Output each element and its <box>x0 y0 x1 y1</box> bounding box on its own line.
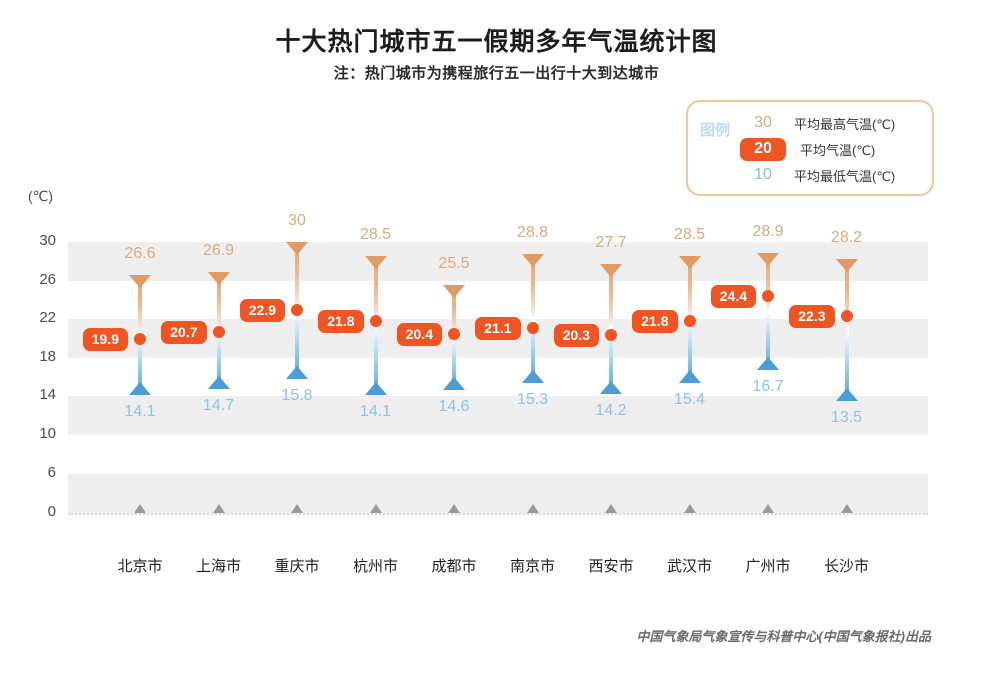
max-temp-value: 28.2 <box>807 229 887 247</box>
max-temp-value: 28.8 <box>493 224 573 242</box>
legend: 图例 30 平均最高气温(℃) 20 平均气温(℃) 10 平均最低气温(℃) <box>686 100 934 196</box>
max-temp-marker <box>679 256 701 269</box>
mean-temp-marker <box>291 304 303 316</box>
min-temp-marker <box>522 370 544 383</box>
footer-credit: 中国气象局气象宣传与科普中心(中国气象报社)出品 <box>636 626 931 645</box>
temperature-range-stem <box>531 254 535 384</box>
mean-temp-marker <box>370 315 382 327</box>
mean-temp-marker <box>762 290 774 302</box>
mean-temp-label: 20.3 <box>554 324 599 347</box>
mean-temp-label: 21.8 <box>632 310 677 333</box>
min-temp-marker <box>129 382 151 395</box>
page-title: 十大热门城市五一假期多年气温统计图 <box>0 22 993 58</box>
mean-temp-label: 20.7 <box>161 321 206 344</box>
x-axis-label: 长沙市 <box>787 555 907 576</box>
min-temp-marker <box>600 381 622 394</box>
mean-temp-label: 22.3 <box>789 305 834 328</box>
y-axis-unit: (℃) <box>28 188 53 205</box>
x-axis-tick-marker <box>134 504 146 513</box>
min-temp-marker <box>208 376 230 389</box>
legend-label-low: 平均最低气温(℃) <box>794 166 895 185</box>
min-temp-value: 15.3 <box>493 391 573 409</box>
max-temp-marker <box>443 285 465 298</box>
axis-baseline <box>68 513 928 515</box>
min-temp-value: 15.8 <box>257 387 337 405</box>
x-axis-tick-marker <box>291 504 303 513</box>
mean-temp-marker <box>684 315 696 327</box>
max-temp-marker <box>365 256 387 269</box>
y-axis-tick: 26 <box>20 271 56 288</box>
y-axis-tick: 10 <box>20 425 56 442</box>
max-temp-value: 28.9 <box>728 223 808 241</box>
x-axis-tick-marker <box>527 504 539 513</box>
min-temp-value: 13.5 <box>807 409 887 427</box>
min-temp-value: 14.1 <box>336 403 416 421</box>
min-temp-marker <box>365 382 387 395</box>
max-temp-value: 25.5 <box>414 255 494 273</box>
mean-temp-label: 21.1 <box>475 317 520 340</box>
x-axis-tick-marker <box>841 504 853 513</box>
mean-temp-label: 21.8 <box>318 310 363 333</box>
grid-band <box>68 474 928 513</box>
min-temp-marker <box>679 370 701 383</box>
y-axis-tick: 14 <box>20 386 56 403</box>
mean-temp-marker <box>213 326 225 338</box>
max-temp-value: 26.6 <box>100 245 180 263</box>
x-axis-tick-marker <box>448 504 460 513</box>
min-temp-marker <box>443 377 465 390</box>
legend-item-mean: 20 平均气温(℃) <box>732 136 932 162</box>
min-temp-value: 14.6 <box>414 398 494 416</box>
min-temp-marker <box>286 366 308 379</box>
legend-title: 图例 <box>700 118 730 143</box>
min-temp-value: 15.4 <box>650 391 730 409</box>
legend-rows: 30 平均最高气温(℃) 20 平均气温(℃) 10 平均最低气温(℃) <box>732 110 932 188</box>
x-axis-tick-marker <box>213 504 225 513</box>
x-axis-tick-marker <box>605 504 617 513</box>
x-axis-tick-marker <box>684 504 696 513</box>
max-temp-marker <box>757 253 779 266</box>
legend-label-mean: 平均气温(℃) <box>800 140 875 159</box>
min-temp-marker <box>757 357 779 370</box>
y-axis-tick: 0 <box>20 503 56 520</box>
temperature-range-stem <box>766 253 770 370</box>
mean-temp-marker <box>527 322 539 334</box>
max-temp-marker <box>129 275 151 288</box>
max-temp-marker <box>600 264 622 277</box>
legend-key-high: 30 <box>732 114 794 132</box>
max-temp-value: 27.7 <box>571 234 651 252</box>
min-temp-value: 14.2 <box>571 402 651 420</box>
legend-key-low: 10 <box>732 166 794 184</box>
legend-item-low: 10 平均最低气温(℃) <box>732 162 932 188</box>
legend-item-high: 30 平均最高气温(℃) <box>732 110 932 136</box>
max-temp-value: 28.5 <box>336 226 416 244</box>
x-axis-tick-marker <box>370 504 382 513</box>
max-temp-marker <box>286 242 308 255</box>
temperature-range-stem <box>845 259 849 400</box>
chart-page: 十大热门城市五一假期多年气温统计图 注：热门城市为携程旅行五一出行十大到达城市 … <box>0 0 993 696</box>
x-axis-tick-marker <box>762 504 774 513</box>
mean-temp-label: 24.4 <box>711 285 756 308</box>
y-axis-tick: 18 <box>20 348 56 365</box>
max-temp-marker <box>522 254 544 267</box>
min-temp-marker <box>836 388 858 401</box>
y-axis-tick: 22 <box>20 309 56 326</box>
min-temp-value: 16.7 <box>728 378 808 396</box>
plot-area: 3026221814106026.614.119.9北京市26.914.720.… <box>68 205 928 520</box>
max-temp-marker <box>208 272 230 285</box>
min-temp-value: 14.7 <box>179 397 259 415</box>
legend-label-high: 平均最高气温(℃) <box>794 114 895 133</box>
min-temp-value: 14.1 <box>100 403 180 421</box>
page-subtitle: 注：热门城市为携程旅行五一出行十大到达城市 <box>0 62 993 83</box>
y-axis-tick: 30 <box>20 232 56 249</box>
max-temp-marker <box>836 259 858 272</box>
mean-temp-label: 19.9 <box>83 328 128 351</box>
legend-key-mean: 20 <box>740 138 786 161</box>
mean-temp-label: 22.9 <box>240 299 285 322</box>
max-temp-value: 26.9 <box>179 242 259 260</box>
mean-temp-label: 20.4 <box>397 323 442 346</box>
max-temp-value: 28.5 <box>650 226 730 244</box>
mean-temp-marker <box>841 310 853 322</box>
max-temp-value: 30 <box>257 212 337 230</box>
y-axis-tick: 6 <box>20 464 56 481</box>
